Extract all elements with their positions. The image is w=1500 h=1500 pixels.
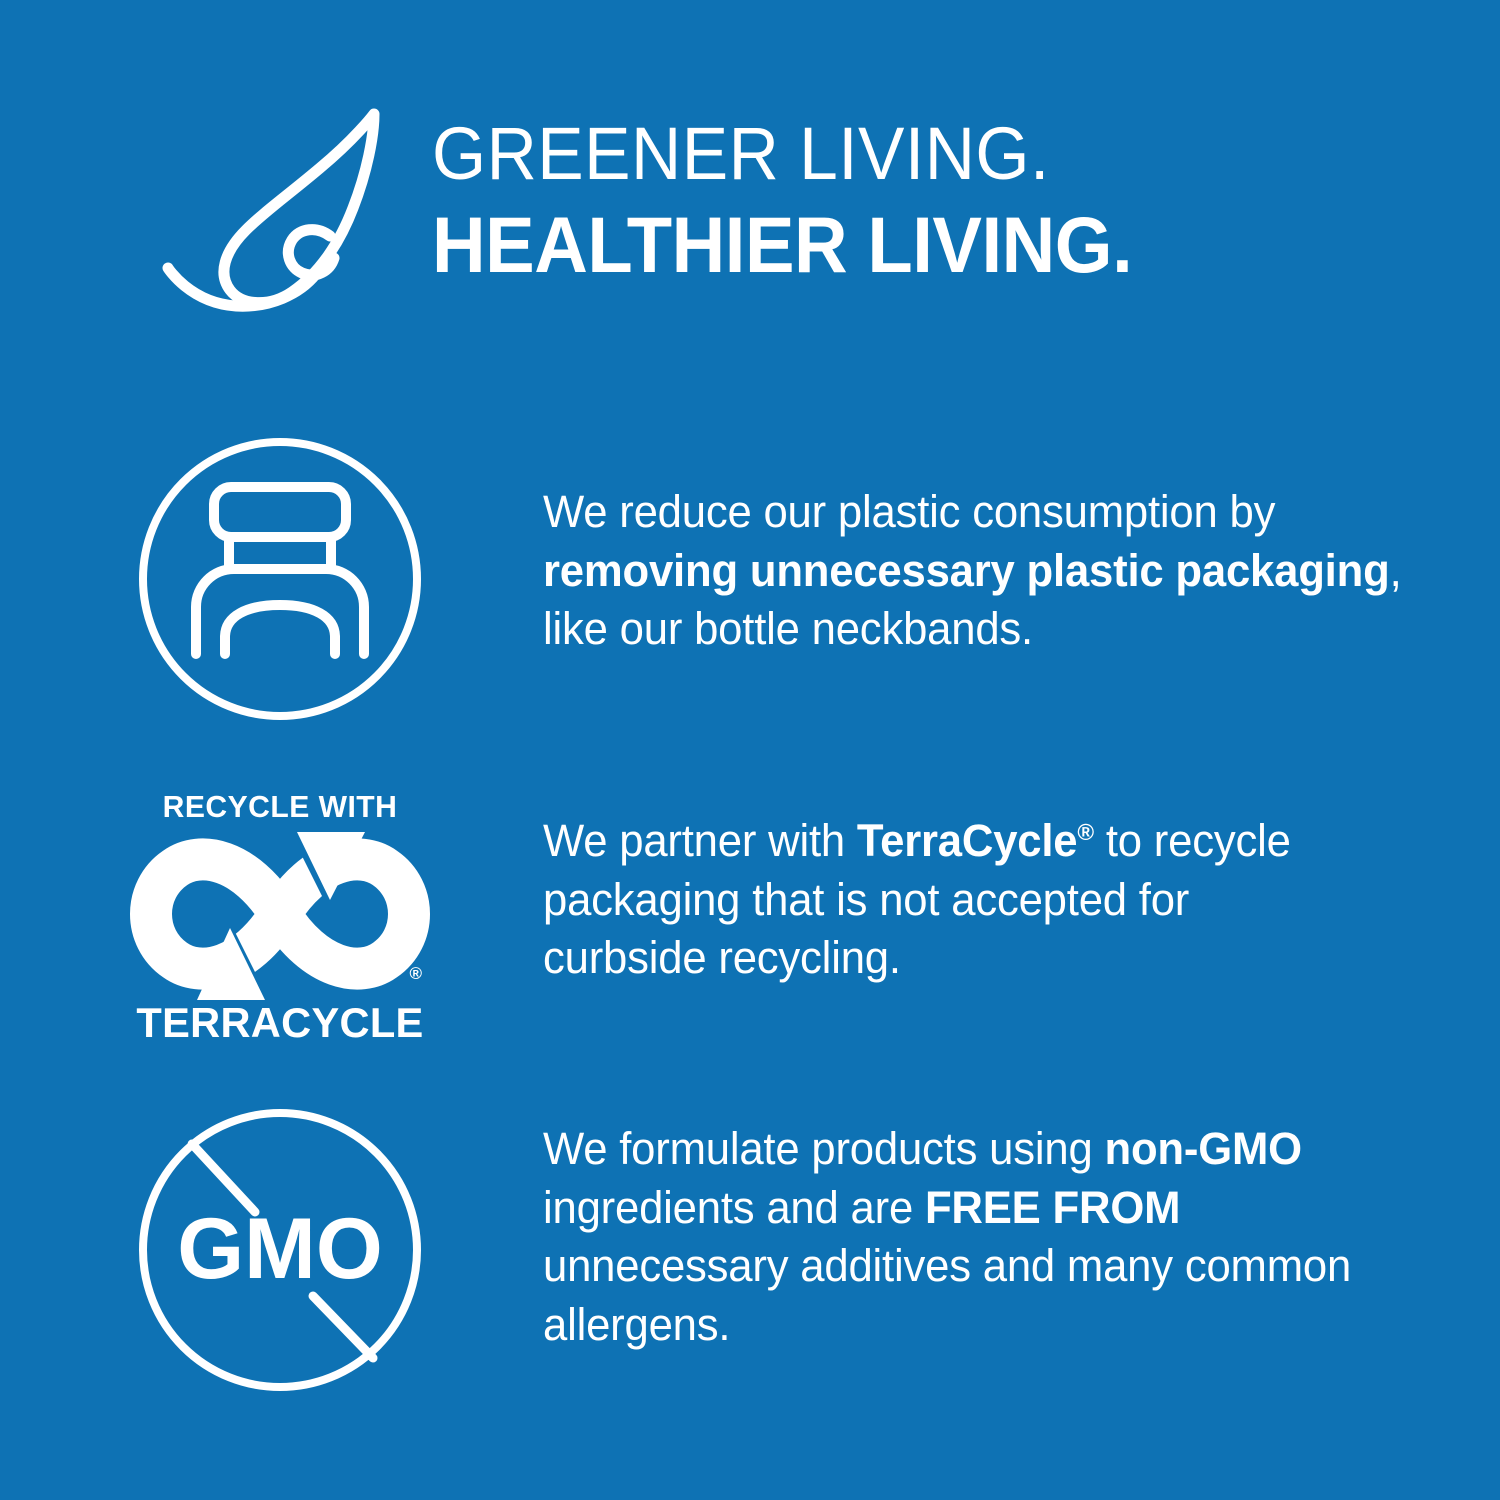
headline-line-2: HEALTHIER LIVING. [432, 205, 1334, 286]
header-banner: GREENER LIVING. HEALTHIER LIVING. [0, 0, 1500, 340]
headline-line-1: GREENER LIVING. [432, 118, 1334, 191]
terracycle-logo: RECYCLE WITH ® TERRACYCLE [125, 780, 435, 1055]
terracycle-bottom-label: TERRACYCLE [127, 1002, 434, 1044]
feature-text-terracycle: We partner with TerraCycle® to recycle p… [543, 812, 1358, 988]
leaf-icon [160, 108, 390, 318]
registered-mark: ® [1077, 819, 1094, 845]
feature-text-bottle: We reduce our plastic consumption by rem… [543, 483, 1416, 659]
text-segment: We formulate products using [543, 1123, 1104, 1174]
page-title: GREENER LIVING. HEALTHIER LIVING. [432, 118, 1392, 285]
gmo-label: GMO [177, 1201, 382, 1297]
text-segment: We partner with [543, 815, 857, 866]
text-segment-bold: non-GMO [1104, 1123, 1301, 1174]
text-segment-bold: TerraCycle [857, 815, 1077, 866]
text-segment-bold: FREE FROM [925, 1182, 1180, 1233]
infinity-recycle-arrows-icon: ® [125, 828, 435, 1000]
text-segment: We reduce our plastic consumption by [543, 486, 1275, 537]
no-gmo-icon: GMO [135, 1100, 425, 1400]
text-segment: ingredients and are [543, 1182, 925, 1233]
bottle-neckband-icon [135, 432, 425, 727]
registered-mark: ® [409, 964, 422, 984]
text-segment-bold: removing unnecessary plastic packaging [543, 545, 1390, 596]
feature-text-gmo: We formulate products using non-GMO ingr… [543, 1120, 1397, 1354]
text-segment: unnecessary additives and many common al… [543, 1240, 1351, 1350]
terracycle-top-label: RECYCLE WITH [130, 791, 431, 822]
